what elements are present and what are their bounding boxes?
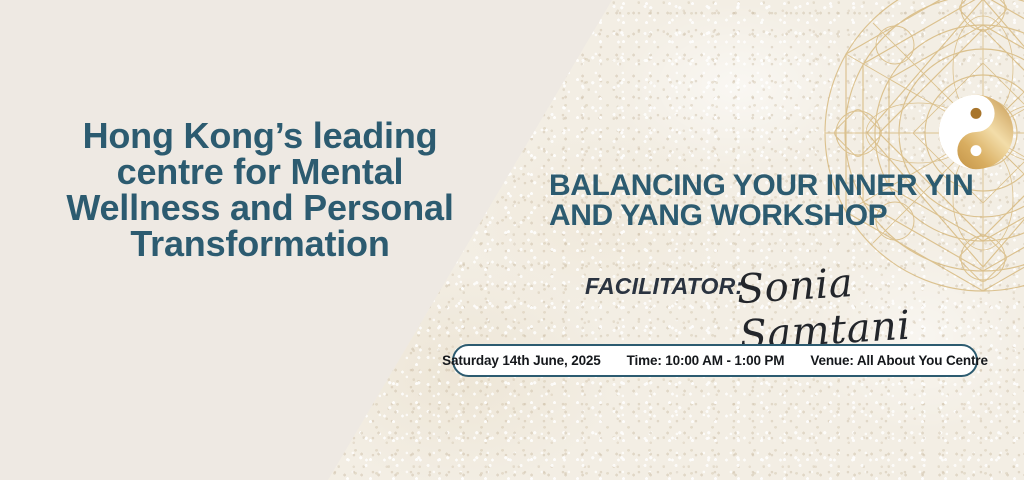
facilitator-label: FACILITATOR: (585, 273, 743, 300)
left-headline: Hong Kong’s leading centre for Mental We… (0, 118, 520, 262)
facilitator-row: FACILITATOR: Sonia Samtani (585, 258, 1024, 350)
event-venue: Venue: All About You Centre (810, 353, 987, 368)
event-time: Time: 10:00 AM - 1:00 PM (627, 353, 785, 368)
event-details-pill: Saturday 14th June, 2025 Time: 10:00 AM … (452, 344, 978, 377)
workshop-title: BALANCING YOUR INNER YIN AND YANG WORKSH… (549, 171, 989, 231)
event-date: Saturday 14th June, 2025 (442, 353, 600, 368)
event-banner: Hong Kong’s leading centre for Mental We… (0, 0, 1024, 480)
facilitator-signature: Sonia Samtani (736, 250, 1022, 359)
yin-yang-icon (938, 94, 1014, 170)
